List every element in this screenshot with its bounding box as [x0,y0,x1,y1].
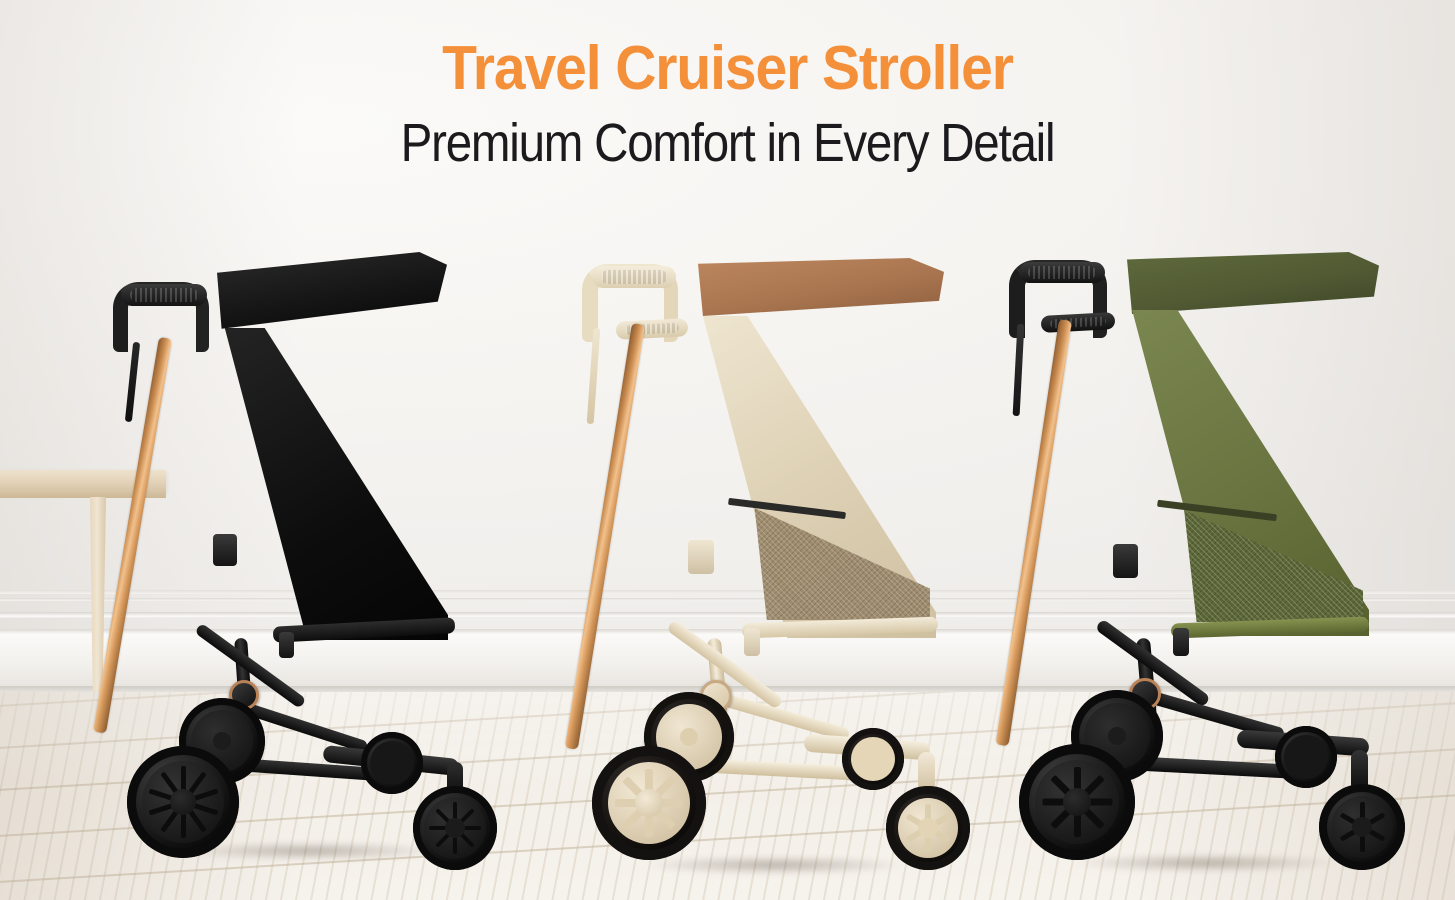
stroller-beige[interactable] [560,240,990,880]
rear-wheel-near [1019,744,1135,860]
handle-grip [121,284,207,306]
grip-texture [1028,266,1096,279]
page-title: Travel Cruiser Stroller [58,36,1397,101]
height-adjust-clamp[interactable] [688,540,714,574]
stroller-green[interactable] [985,238,1425,878]
page-subtitle: Premium Comfort in Every Detail [87,115,1367,172]
front-caster-near [886,786,970,870]
fabric-clamp [279,632,294,658]
chassis-diagonal-front [718,692,850,741]
handle-grip [592,266,676,288]
front-caster-near [413,786,497,870]
front-caster-far [1275,726,1337,788]
seat-sling [213,328,448,640]
front-caster-far [842,728,904,790]
height-adjust-clamp[interactable] [1113,544,1138,578]
fabric-clamp [744,628,760,656]
telescoping-pole [996,319,1072,746]
grip-texture [601,270,667,284]
fabric-clamp [1173,628,1189,656]
telescoping-pole [565,323,645,750]
wrist-strap [587,328,601,424]
canopy-visor [217,252,447,332]
wrist-strap [125,342,140,422]
front-caster-far [361,732,423,794]
stroller-black[interactable] [95,246,525,866]
product-banner: Travel Cruiser Stroller Premium Comfort … [0,0,1455,900]
handle-lower-grip [616,318,689,340]
handle-grip [1019,262,1105,283]
canopy-visor [698,258,944,316]
rear-wheel-near [127,746,239,858]
headline-block: Travel Cruiser Stroller Premium Comfort … [0,36,1455,172]
height-adjust-clamp[interactable] [213,534,237,566]
front-caster-near [1319,784,1405,870]
grip-texture [130,288,198,302]
rear-wheel-near [592,746,706,860]
canopy-visor [1127,252,1379,314]
